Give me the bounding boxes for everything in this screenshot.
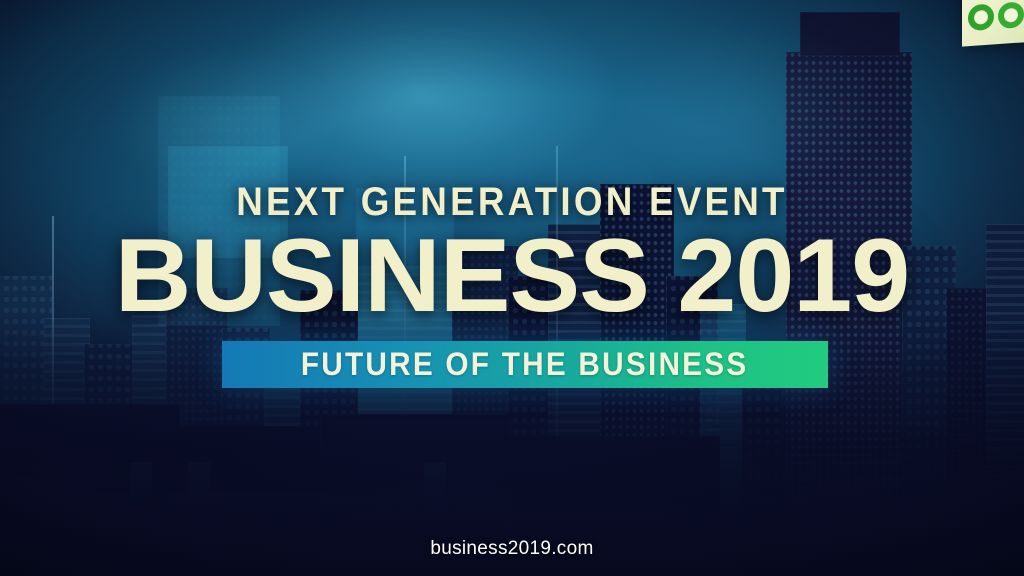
poster-canvas: NEXT GENERATION EVENT BUSINESS 2019 FUTU… bbox=[0, 0, 1024, 576]
brand-logo-badge[interactable] bbox=[962, 0, 1024, 47]
page-title: BUSINESS 2019 bbox=[0, 230, 1024, 322]
website-url[interactable]: business2019.com bbox=[0, 538, 1024, 560]
green-ring-icon bbox=[998, 1, 1024, 29]
title-block: NEXT GENERATION EVENT BUSINESS 2019 bbox=[0, 180, 1024, 322]
subtitle-text: FUTURE OF THE BUSINESS bbox=[301, 346, 749, 383]
subtitle-gradient-bar: FUTURE OF THE BUSINESS bbox=[222, 341, 828, 388]
green-ring-icon bbox=[968, 3, 994, 31]
